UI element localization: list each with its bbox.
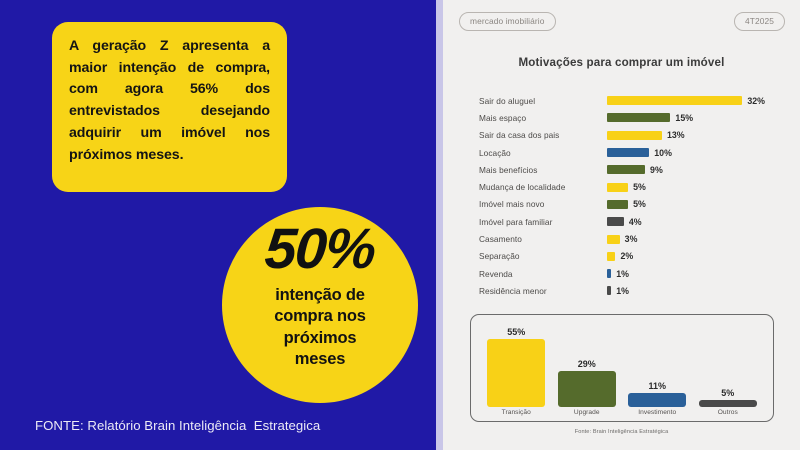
vbar-column: 5%Outros: [699, 315, 757, 421]
right-panel: mercado imobiliário 4T2025 Motivações pa…: [443, 0, 800, 450]
hbar-value: 32%: [747, 96, 765, 106]
hbar-track: 9%: [607, 165, 789, 175]
hbar-fill: [607, 252, 615, 261]
hbar-label: Mudança de localidade: [479, 182, 607, 192]
hbar-label: Separação: [479, 251, 607, 261]
hbar-label: Casamento: [479, 234, 607, 244]
hbar-fill: [607, 183, 628, 192]
vbar-value: 11%: [648, 381, 666, 391]
left-source-note: FONTE: Relatório Brain Inteligência Estr…: [35, 418, 320, 433]
hbar-label: Imóvel para familiar: [479, 217, 607, 227]
hbar-track: 5%: [607, 199, 789, 209]
vbar-fill: [699, 400, 757, 406]
hbar-fill: [607, 96, 742, 105]
tag-market[interactable]: mercado imobiliário: [459, 12, 556, 31]
hbar-row: Separação2%: [479, 248, 789, 265]
hbar-value: 13%: [667, 130, 685, 140]
hbar-fill: [607, 131, 662, 140]
hbar-label: Mais benefícios: [479, 165, 607, 175]
hbar-label: Locação: [479, 148, 607, 158]
hbar-value: 3%: [625, 234, 638, 244]
quote-card: A geração Z apresenta a maior intenção d…: [52, 22, 287, 192]
hbar-row: Mais espaço15%: [479, 109, 789, 126]
hbar-value: 2%: [620, 251, 633, 261]
vbar-column: 11%Investimento: [628, 315, 686, 421]
vbar-fill: [487, 339, 545, 407]
hbar-row: Imóvel para familiar4%: [479, 213, 789, 230]
hbar-track: 1%: [607, 269, 789, 279]
headline-stat-caption-line: compra nos: [274, 306, 366, 327]
hbar-track: 15%: [607, 113, 789, 123]
hbar-value: 9%: [650, 165, 663, 175]
hbar-row: Imóvel mais novo5%: [479, 196, 789, 213]
hbar-value: 4%: [629, 217, 642, 227]
hbar-row: Residência menor1%: [479, 282, 789, 299]
vbar-fill: [628, 393, 686, 407]
vertical-bar-chart: 55%Transição29%Upgrade11%Investimento5%O…: [470, 314, 774, 422]
right-source-note: Fonte: Brain Inteligência Estratégica: [443, 429, 800, 435]
hbar-fill: [607, 217, 624, 226]
hbar-track: 1%: [607, 286, 789, 296]
hbar-fill: [607, 200, 628, 209]
hbar-value: 10%: [654, 148, 672, 158]
hbar-label: Sair da casa dos pais: [479, 130, 607, 140]
panel-divider: [436, 0, 443, 450]
hbar-track: 2%: [607, 251, 789, 261]
headline-stat-caption-line: meses: [274, 349, 366, 370]
hbar-value: 1%: [616, 286, 629, 296]
hbar-row: Mais benefícios9%: [479, 161, 789, 178]
hbar-label: Revenda: [479, 269, 607, 279]
headline-stat-circle: 50% intenção decompra nospróximosmeses: [222, 207, 418, 403]
hbar-row: Revenda1%: [479, 265, 789, 282]
hbar-value: 15%: [675, 113, 693, 123]
horizontal-bar-chart: Sair do aluguel32%Mais espaço15%Sair da …: [479, 92, 789, 300]
hbar-fill: [607, 165, 645, 174]
hbar-value: 1%: [616, 269, 629, 279]
hbar-track: 3%: [607, 234, 789, 244]
vbar-value: 55%: [507, 327, 525, 337]
hbar-track: 4%: [607, 217, 789, 227]
vbar-column: 55%Transição: [487, 315, 545, 421]
vertical-bar-chart-bars: 55%Transição29%Upgrade11%Investimento5%O…: [471, 315, 773, 421]
vbar-value: 29%: [578, 359, 596, 369]
hbar-label: Sair do aluguel: [479, 96, 607, 106]
headline-stat-caption-line: próximos: [274, 328, 366, 349]
hbar-track: 10%: [607, 148, 789, 158]
infographic-root: A geração Z apresenta a maior intenção d…: [0, 0, 800, 450]
hbar-value: 5%: [633, 182, 646, 192]
hbar-track: 32%: [607, 96, 789, 106]
vbar-category: Transição: [502, 409, 531, 416]
chart-title: Motivações para comprar um imóvel: [443, 56, 800, 69]
hbar-row: Locação10%: [479, 144, 789, 161]
vbar-category: Outros: [718, 409, 738, 416]
hbar-track: 13%: [607, 130, 789, 140]
vbar-category: Upgrade: [574, 409, 600, 416]
hbar-row: Sair da casa dos pais13%: [479, 127, 789, 144]
vbar-fill: [558, 371, 616, 407]
hbar-row: Mudança de localidade5%: [479, 178, 789, 195]
hbar-fill: [607, 269, 611, 278]
headline-stat-value: 50%: [263, 221, 377, 278]
hbar-label: Mais espaço: [479, 113, 607, 123]
hbar-value: 5%: [633, 199, 646, 209]
hbar-fill: [607, 148, 649, 157]
hbar-label: Imóvel mais novo: [479, 199, 607, 209]
left-panel: A geração Z apresenta a maior intenção d…: [0, 0, 436, 450]
hbar-fill: [607, 113, 670, 122]
vbar-value: 5%: [721, 388, 734, 398]
hbar-fill: [607, 286, 611, 295]
hbar-track: 5%: [607, 182, 789, 192]
tag-period[interactable]: 4T2025: [734, 12, 785, 31]
hbar-label: Residência menor: [479, 286, 607, 296]
quote-text: A geração Z apresenta a maior intenção d…: [69, 36, 270, 166]
vbar-column: 29%Upgrade: [558, 315, 616, 421]
vbar-category: Investimento: [638, 409, 676, 416]
headline-stat-caption: intenção decompra nospróximosmeses: [274, 285, 366, 371]
headline-stat-caption-line: intenção de: [274, 285, 366, 306]
hbar-row: Sair do aluguel32%: [479, 92, 789, 109]
hbar-row: Casamento3%: [479, 230, 789, 247]
hbar-fill: [607, 235, 620, 244]
